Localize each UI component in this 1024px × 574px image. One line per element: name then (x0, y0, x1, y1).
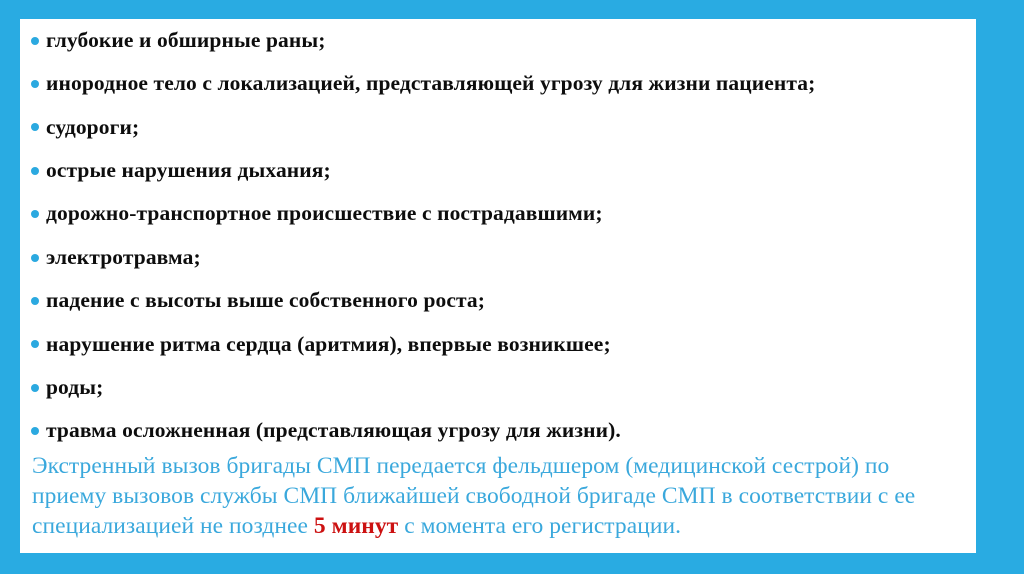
list-item: острые нарушения дыхания; (20, 149, 976, 192)
bullet-dot-icon (31, 384, 39, 392)
bullet-dot-icon (31, 427, 39, 435)
list-item: электротравма; (20, 236, 976, 279)
list-item-label: падение с высоты выше собственного роста… (46, 289, 485, 313)
list-item: инородное тело с локализацией, представл… (20, 62, 976, 105)
list-item-label: нарушение ритма сердца (аритмия), впервы… (46, 333, 611, 357)
paragraph-line-3: специализацией не позднее 5 минут с моме… (32, 511, 970, 541)
list-item-label: травма осложненная (представляющая угроз… (46, 419, 621, 443)
list-item: травма осложненная (представляющая угроз… (20, 410, 976, 453)
bullet-dot-icon (31, 340, 39, 348)
bullet-dot-icon (31, 80, 39, 88)
list-item-label: судороги; (46, 116, 139, 140)
emergency-call-criteria-list: глубокие и обширные раны; инородное тело… (20, 19, 976, 453)
list-item-label: инородное тело с локализацией, представл… (46, 72, 815, 96)
list-item: нарушение ритма сердца (аритмия), впервы… (20, 323, 976, 366)
list-item-label: дорожно-транспортное происшествие с пост… (46, 202, 603, 226)
bullet-dot-icon (31, 37, 39, 45)
bullet-dot-icon (31, 297, 39, 305)
closing-paragraph: Экстренный вызов бригады СМП передается … (32, 451, 970, 541)
list-item: глубокие и обширные раны; (20, 19, 976, 62)
slide-content-area: глубокие и обширные раны; инородное тело… (20, 19, 976, 553)
paragraph-line-3-before: специализацией не позднее (32, 513, 314, 539)
list-item-label: глубокие и обширные раны; (46, 29, 326, 53)
paragraph-line-3-after: с момента его регистрации. (398, 513, 681, 539)
bullet-dot-icon (31, 123, 39, 131)
bullet-dot-icon (31, 210, 39, 218)
bullet-dot-icon (31, 167, 39, 175)
paragraph-line-2: приему вызовов службы СМП ближайшей своб… (32, 481, 970, 511)
time-limit-highlight: 5 минут (314, 513, 398, 539)
list-item: судороги; (20, 106, 976, 149)
list-item: падение с высоты выше собственного роста… (20, 279, 976, 322)
paragraph-line-1: Экстренный вызов бригады СМП передается … (32, 451, 970, 481)
list-item-label: электротравма; (46, 246, 201, 270)
list-item: роды; (20, 366, 976, 409)
list-item: дорожно-транспортное происшествие с пост… (20, 193, 976, 236)
bullet-dot-icon (31, 254, 39, 262)
list-item-label: роды; (46, 376, 103, 400)
list-item-label: острые нарушения дыхания; (46, 159, 331, 183)
slide-frame: глубокие и обширные раны; инородное тело… (0, 0, 1024, 574)
